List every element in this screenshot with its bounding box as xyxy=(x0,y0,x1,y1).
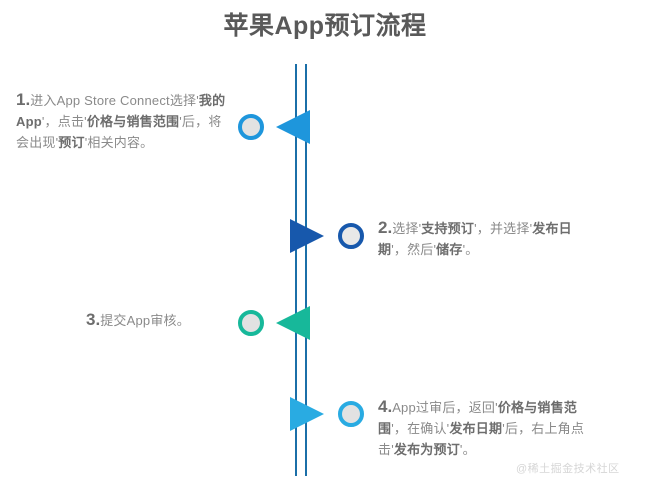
step-1-node-circle-icon xyxy=(238,114,264,140)
step-4-number: 4. xyxy=(378,397,392,416)
step-4-text: 4.App过审后，返回'价格与销售范围'，在确认'发布日期'后，右上角点击'发布… xyxy=(378,396,606,460)
step-4-body: App过审后，返回'价格与销售范围'，在确认'发布日期'后，右上角点击'发布为预… xyxy=(378,400,584,457)
step-1-arrow-left-icon xyxy=(276,110,310,144)
watermark: @稀土掘金技术社区 xyxy=(516,460,620,476)
step-2-arrow-right-icon xyxy=(290,219,324,253)
step-2-text: 2.选择'支持预订'，并选择'发布日期'，然后'储存'。 xyxy=(378,217,592,260)
step-3-arrow-left-icon xyxy=(276,306,310,340)
step-1-body: 进入App Store Connect选择'我的App'，点击'价格与销售范围'… xyxy=(16,93,225,150)
step-3-node-circle-icon xyxy=(238,310,264,336)
step-4-node-circle-icon xyxy=(338,401,364,427)
step-2-body: 选择'支持预订'，并选择'发布日期'，然后'储存'。 xyxy=(378,221,572,257)
step-1-number: 1. xyxy=(16,90,30,109)
infographic-canvas: 苹果App预订流程 1.进入App Store Connect选择'我的App'… xyxy=(0,0,650,486)
step-4-arrow-right-icon xyxy=(290,397,324,431)
step-2-node-circle-icon xyxy=(338,223,364,249)
step-1-text: 1.进入App Store Connect选择'我的App'，点击'价格与销售范… xyxy=(16,89,232,153)
step-3-body: 提交App审核。 xyxy=(100,313,190,328)
step-3-number: 3. xyxy=(86,310,100,329)
page-title: 苹果App预订流程 xyxy=(0,6,650,42)
step-2-number: 2. xyxy=(378,218,392,237)
step-3-text: 3.提交App审核。 xyxy=(86,309,232,331)
